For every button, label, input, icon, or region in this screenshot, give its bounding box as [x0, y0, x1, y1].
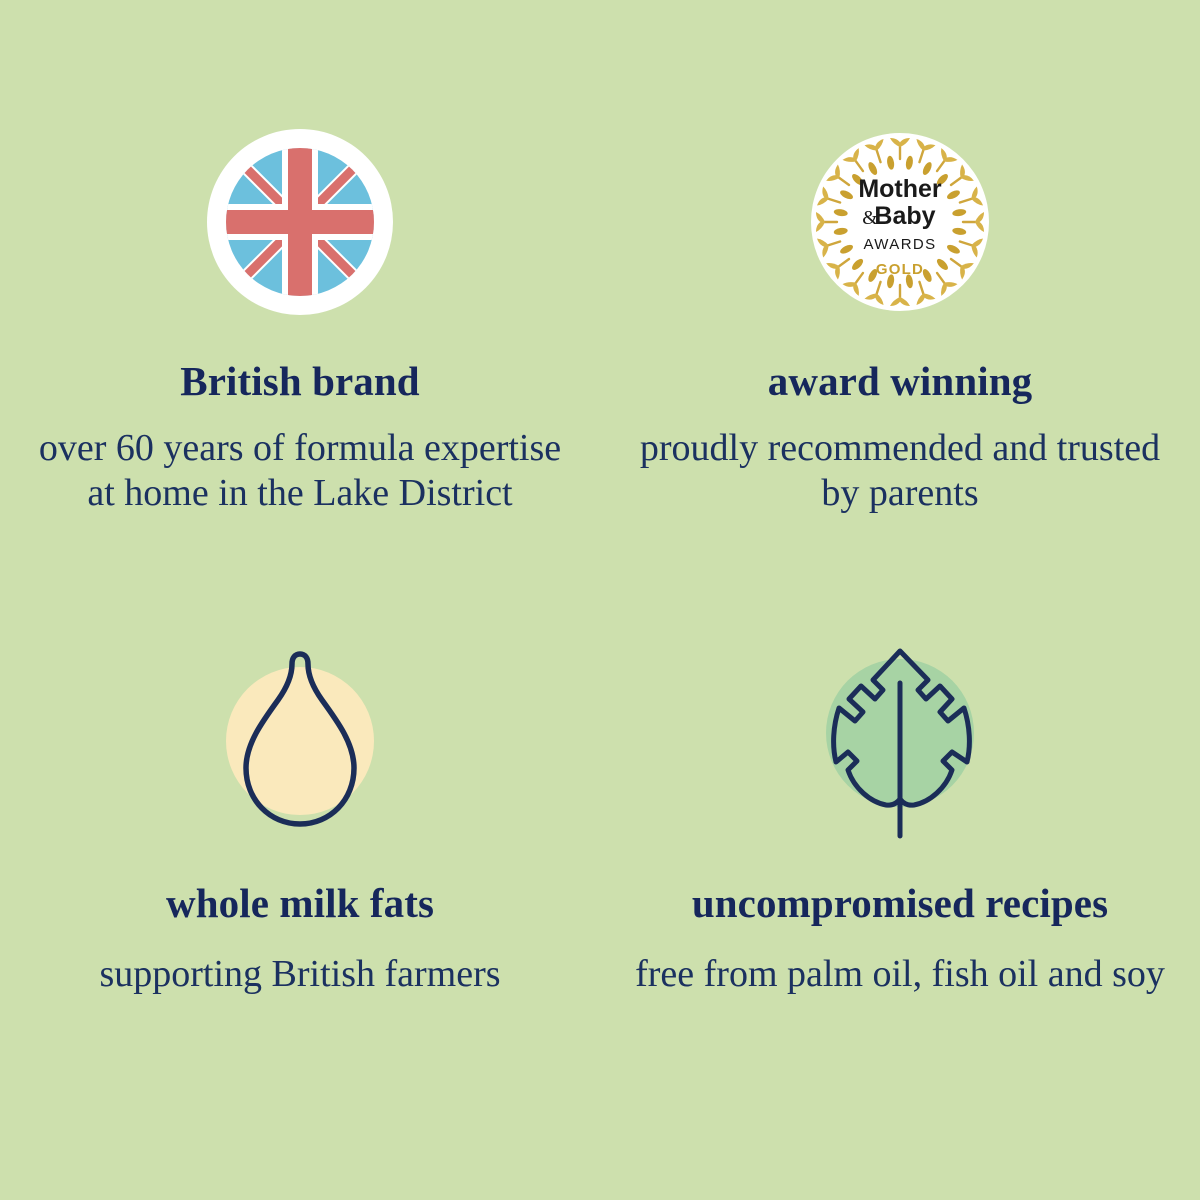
- leaf-icon: [785, 628, 1015, 858]
- badge-line-gold: GOLD: [876, 261, 924, 278]
- badge-line-awards: AWARDS: [863, 236, 936, 253]
- feature-heading: British brand: [180, 358, 419, 404]
- feature-heading: uncompromised recipes: [692, 880, 1108, 926]
- union-jack-roundel-icon: [200, 122, 400, 322]
- feature-body: proudly recommended and trusted by paren…: [630, 426, 1170, 516]
- mother-and-baby-awards-gold-badge-icon: Mother & Baby AWARDS GOLD: [800, 122, 1000, 322]
- feature-card-whole-milk-fats: whole milk fats supporting British farme…: [0, 600, 600, 1200]
- badge-line-mother: Mother: [858, 175, 942, 203]
- feature-heading: whole milk fats: [166, 880, 434, 926]
- feature-body: free from palm oil, fish oil and soy: [635, 952, 1165, 997]
- badge-line-baby: Baby: [874, 202, 935, 230]
- feature-card-award-winning: Mother & Baby AWARDS GOLD award winning …: [600, 0, 1200, 600]
- feature-card-british-brand: British brand over 60 years of formula e…: [0, 0, 600, 600]
- feature-heading: award winning: [768, 358, 1032, 404]
- feature-body: over 60 years of formula expertise at ho…: [30, 426, 570, 516]
- milk-droplet-icon: [185, 628, 415, 858]
- feature-body: supporting British farmers: [99, 952, 500, 997]
- feature-card-uncompromised-recipes: uncompromised recipes free from palm oil…: [600, 600, 1200, 1200]
- feature-grid: British brand over 60 years of formula e…: [0, 0, 1200, 1200]
